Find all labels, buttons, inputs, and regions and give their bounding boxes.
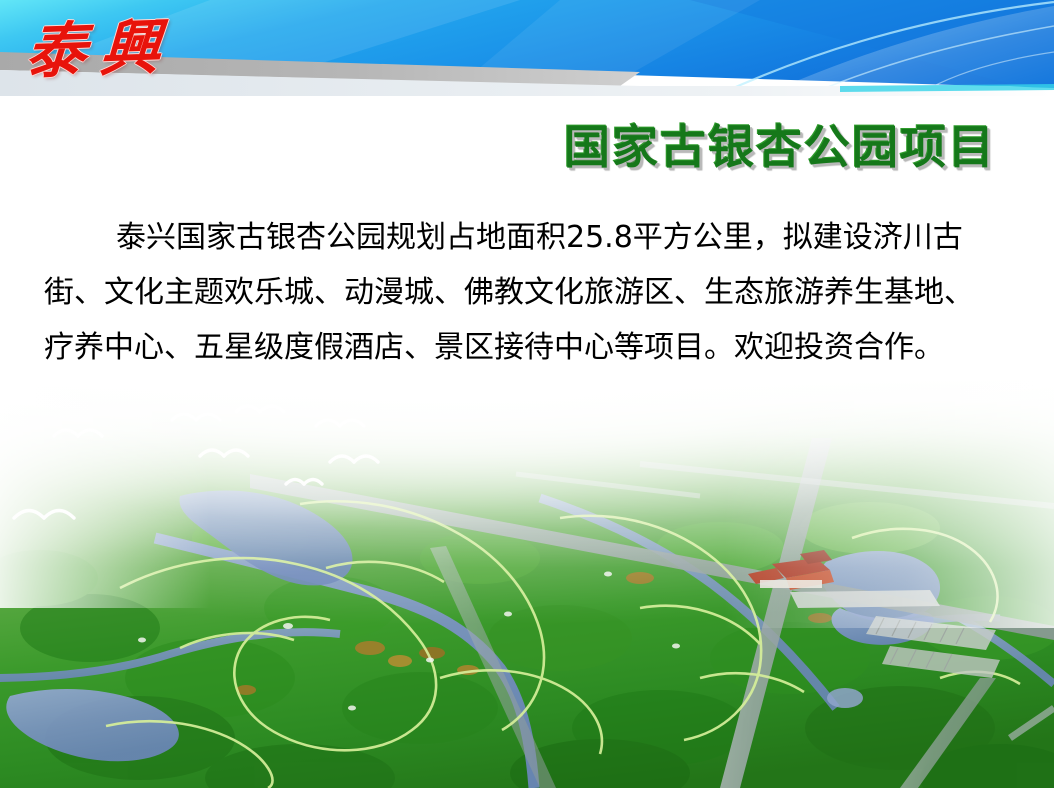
header-banner: 泰興 [0,0,1054,110]
park-aerial-illustration [0,378,1054,788]
slide-root: 泰興 国家古银杏公园项目 泰兴国家古银杏公园规划占地面积25.8平方公里，拟建设… [0,0,1054,788]
atmospheric-haze [0,378,1054,638]
banner-white-base [0,96,1054,110]
page-title-row: 国家古银杏公园项目 [0,112,1054,182]
park-aerial-photo [0,378,1054,788]
body-line: 街、文化主题欢乐城、动漫城、佛教文化旅游区、生态旅游养生基地、 [44,265,1012,320]
brand-logo-text: 泰興 [24,17,177,82]
body-paragraph: 泰兴国家古银杏公园规划占地面积25.8平方公里，拟建设济川古 街、文化主题欢乐城… [44,210,1012,375]
body-line: 泰兴国家古银杏公园规划占地面积25.8平方公里，拟建设济川古 [44,210,1012,265]
page-title: 国家古银杏公园项目 [564,122,996,173]
brand-logo[interactable]: 泰興 [26,8,216,92]
body-line: 疗养中心、五星级度假酒店、景区接待中心等项目。欢迎投资合作。 [44,320,1012,375]
